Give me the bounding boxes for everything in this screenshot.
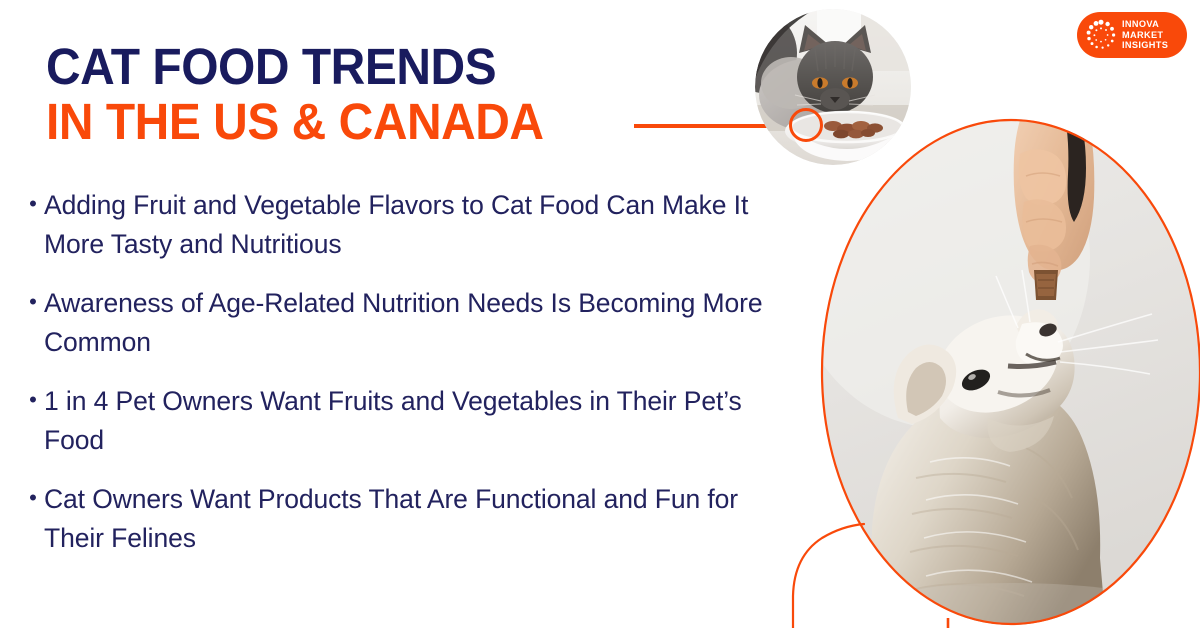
- logo-line-1: INNOVA: [1122, 19, 1168, 30]
- title-line-secondary: IN THE US & CANADA: [46, 94, 648, 150]
- list-item-label: Adding Fruit and Vegetable Flavors to Ca…: [44, 186, 774, 264]
- bullet-marker-icon: •: [22, 187, 44, 221]
- page-title: CAT FOOD TRENDS IN THE US & CANADA: [46, 40, 686, 150]
- list-item: • Cat Owners Want Products That Are Func…: [22, 480, 792, 558]
- logo-line-2: MARKET: [1122, 30, 1168, 41]
- list-item-label: Cat Owners Want Products That Are Functi…: [44, 480, 774, 558]
- innova-market-insights-logo[interactable]: INNOVA MARKET INSIGHTS: [1077, 12, 1187, 58]
- title-line-primary: CAT FOOD TRENDS: [46, 40, 648, 94]
- circle-highlight-icon: [789, 108, 823, 142]
- bullet-marker-icon: •: [22, 383, 44, 417]
- innova-dot-ring-icon: [1085, 19, 1117, 51]
- list-item: • 1 in 4 Pet Owners Want Fruits and Vege…: [22, 382, 792, 460]
- infographic-canvas: CAT FOOD TRENDS IN THE US & CANADA: [0, 0, 1200, 628]
- logo-line-3: INSIGHTS: [1122, 40, 1168, 51]
- list-item-label: 1 in 4 Pet Owners Want Fruits and Vegeta…: [44, 382, 774, 460]
- list-item: • Adding Fruit and Vegetable Flavors to …: [22, 186, 792, 264]
- logo-wordmark: INNOVA MARKET INSIGHTS: [1122, 19, 1168, 51]
- list-item-label: Awareness of Age-Related Nutrition Needs…: [44, 284, 774, 362]
- trend-bullet-list: • Adding Fruit and Vegetable Flavors to …: [22, 186, 792, 558]
- list-item: • Awareness of Age-Related Nutrition Nee…: [22, 284, 792, 362]
- bullet-marker-icon: •: [22, 481, 44, 515]
- bullet-marker-icon: •: [22, 285, 44, 319]
- hand-feeding-cat-treat-photo: [820, 118, 1200, 628]
